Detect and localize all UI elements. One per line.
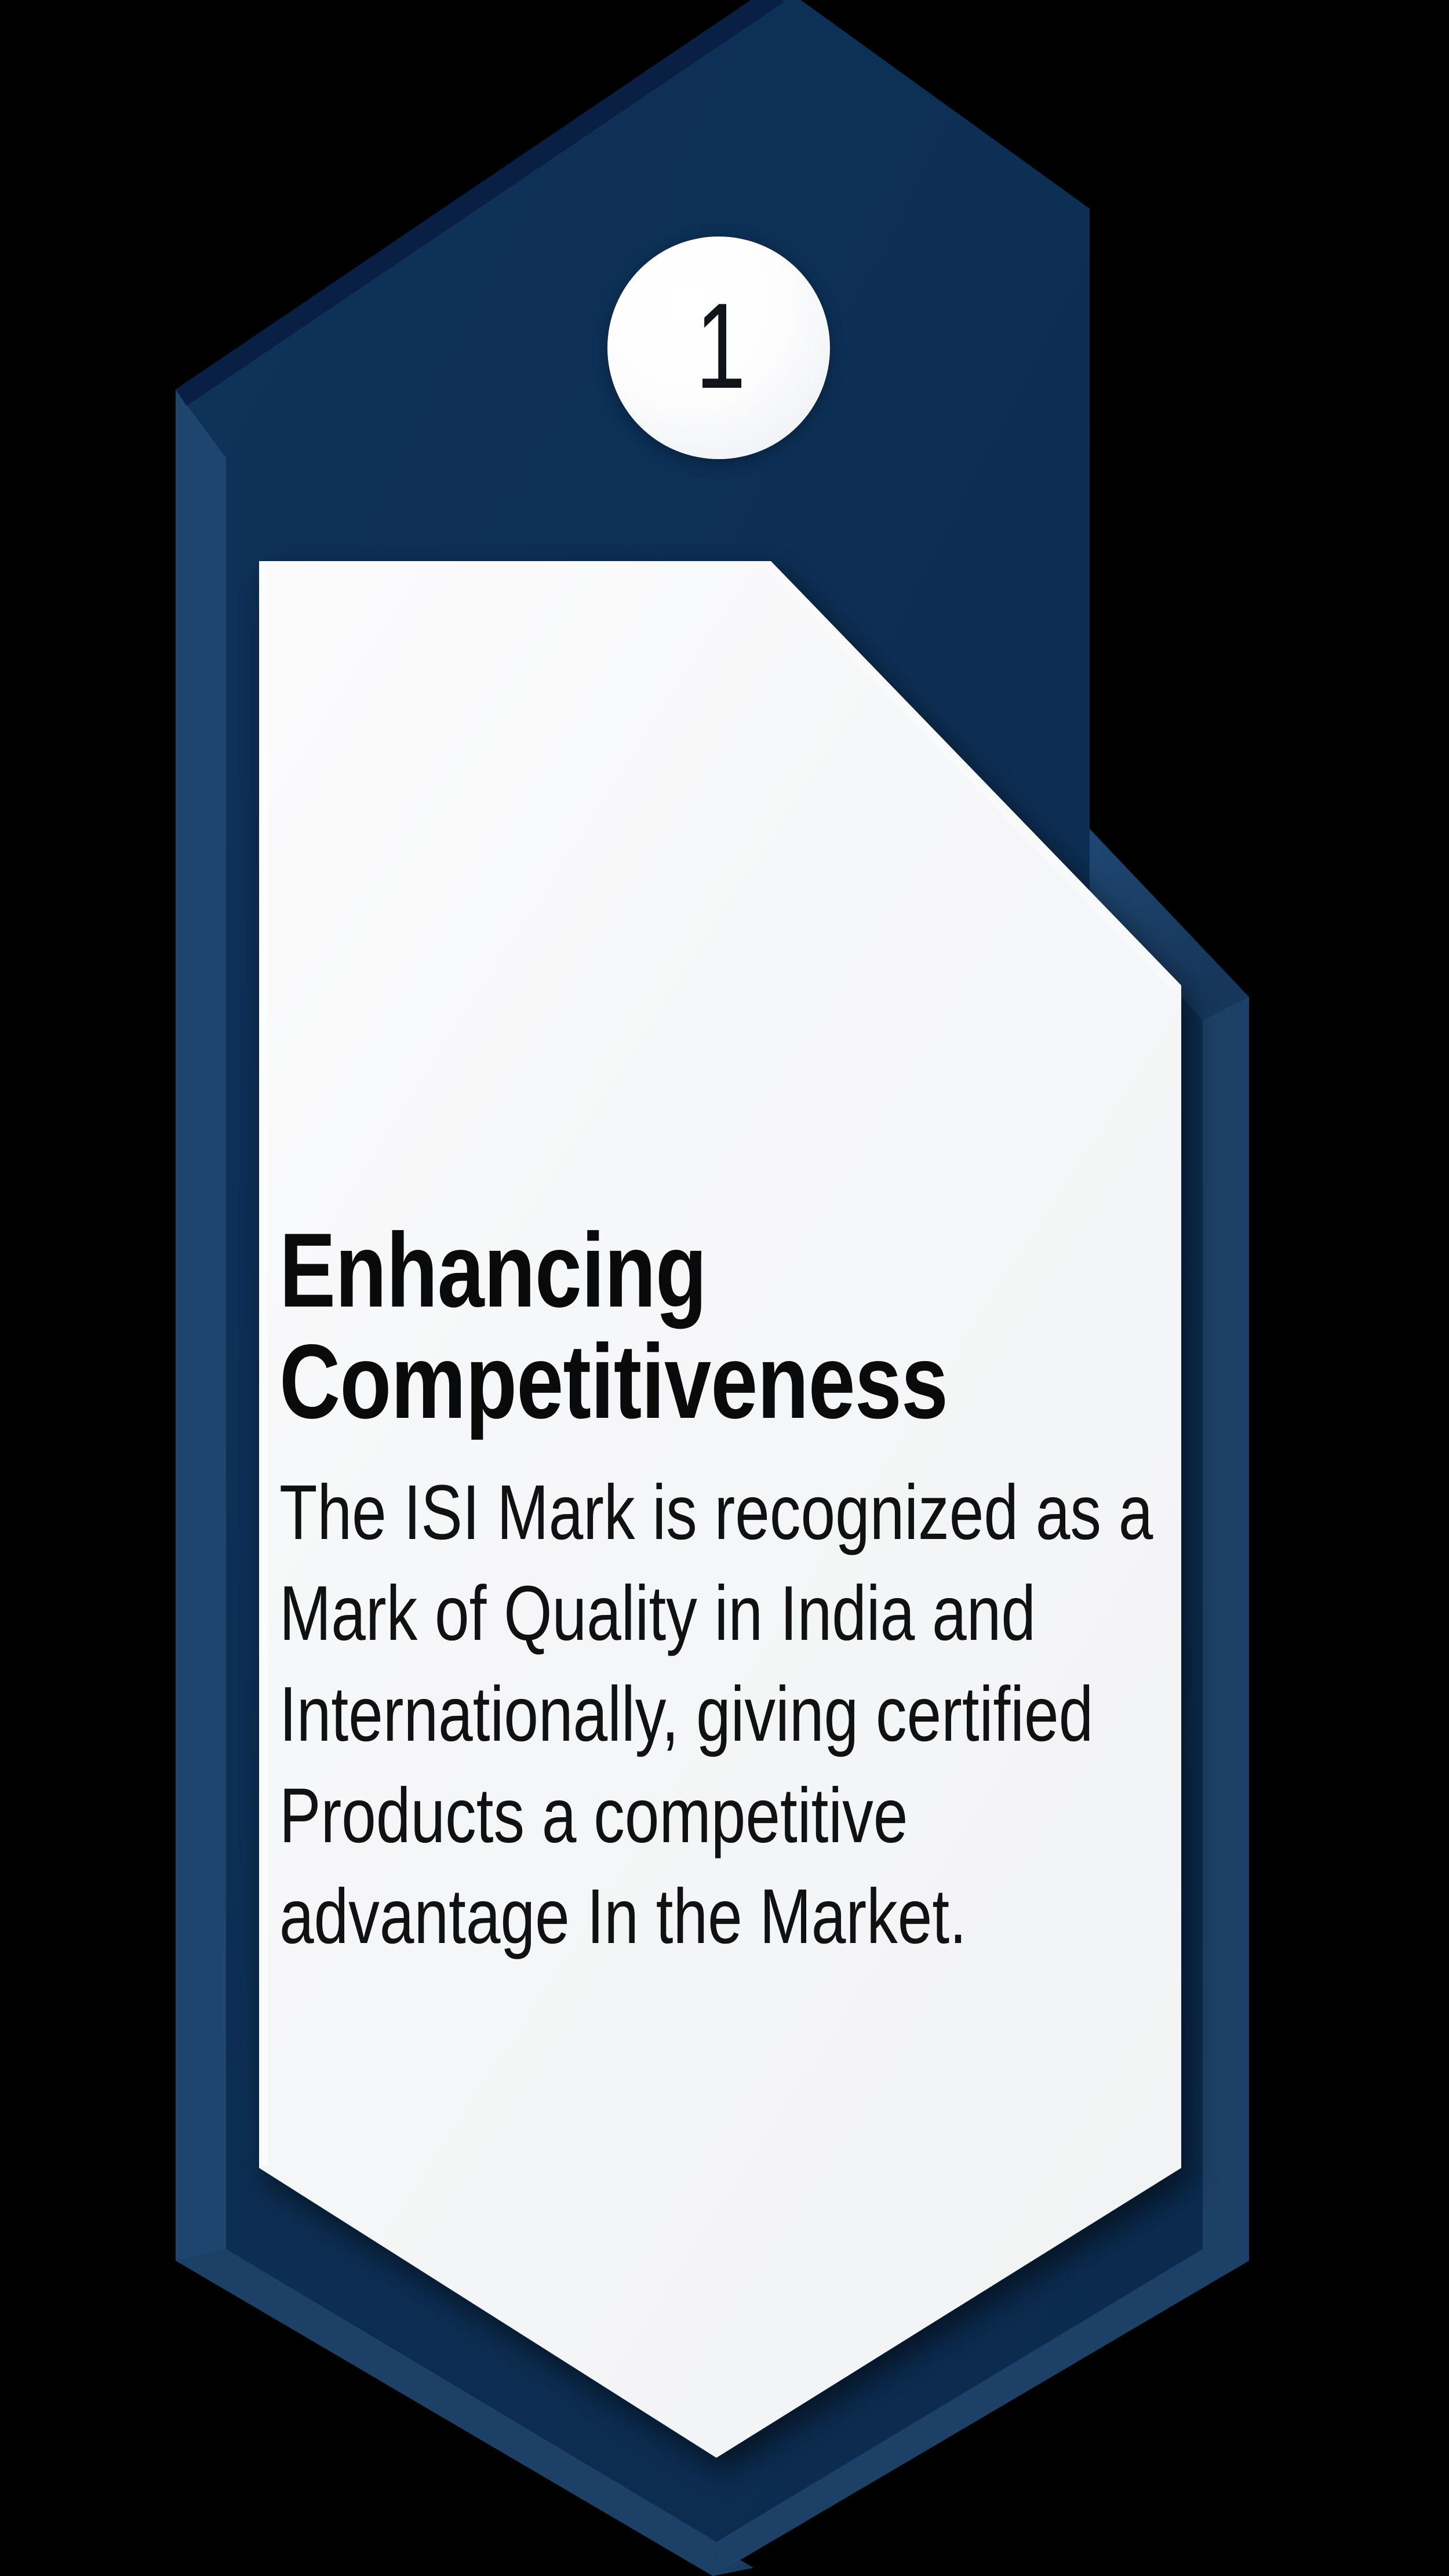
card-description: The ISI Mark is recognized as a Mark of … xyxy=(279,1462,1184,1967)
card-title: Enhancing Competitiveness xyxy=(279,1214,1003,1437)
card-content: Enhancing Competitiveness The ISI Mark i… xyxy=(279,1214,1184,1967)
step-number-badge: 1 xyxy=(607,237,830,459)
infographic-card: 1 Enhancing Competitiveness The ISI Mark… xyxy=(0,0,1449,2576)
step-number-label: 1 xyxy=(696,285,745,407)
